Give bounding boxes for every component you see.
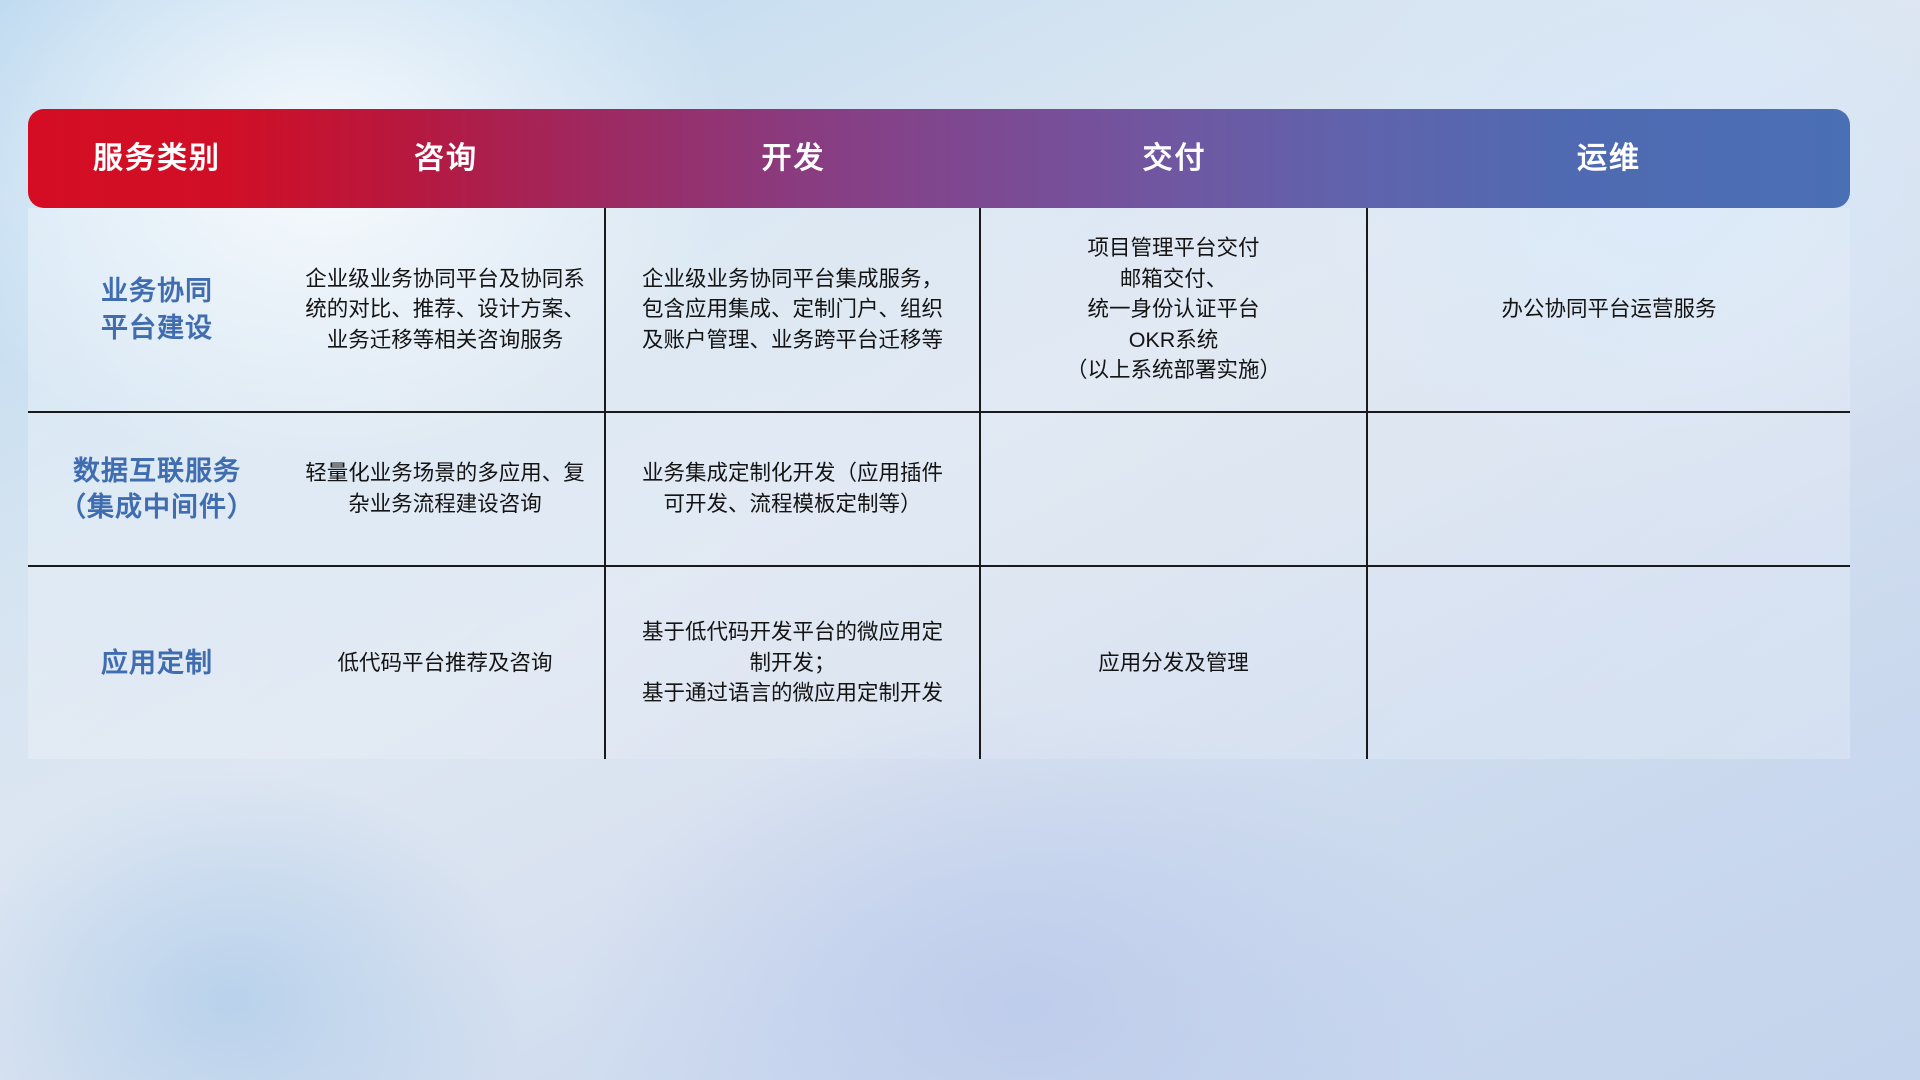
column-header-label: 服务类别 xyxy=(93,144,221,174)
column-header-label: 开发 xyxy=(762,144,826,174)
column-header-category: 服务类别 xyxy=(28,109,286,208)
cell-operations xyxy=(1368,413,1850,565)
column-header-consulting: 咨询 xyxy=(286,109,606,208)
cell-delivery xyxy=(981,413,1368,565)
column-header-label: 运维 xyxy=(1577,144,1641,174)
cell-text: 项目管理平台交付邮箱交付、统一身份认证平台OKR系统（以上系统部署实施） xyxy=(1066,233,1281,386)
cell-development: 企业级业务协同平台集成服务，包含应用集成、定制门户、组织及账户管理、业务跨平台迁… xyxy=(606,208,981,411)
cell-text: 企业级业务协同平台集成服务，包含应用集成、定制门户、组织及账户管理、业务跨平台迁… xyxy=(642,264,943,356)
table-row: 数据互联服务（集成中间件） 轻量化业务场景的多应用、复杂业务流程建设咨询 业务集… xyxy=(28,413,1850,567)
column-header-operations: 运维 xyxy=(1368,109,1850,208)
cell-operations xyxy=(1368,567,1850,759)
cell-delivery: 项目管理平台交付邮箱交付、统一身份认证平台OKR系统（以上系统部署实施） xyxy=(981,208,1368,411)
table-row: 应用定制 低代码平台推荐及咨询 基于低代码开发平台的微应用定制开发；基于通过语言… xyxy=(28,567,1850,759)
cell-text: 基于低代码开发平台的微应用定制开发；基于通过语言的微应用定制开发 xyxy=(642,617,943,709)
cell-text: 企业级业务协同平台及协同系统的对比、推荐、设计方案、业务迁移等相关咨询服务 xyxy=(305,264,585,356)
row-label-data-interconnect: 数据互联服务（集成中间件） xyxy=(28,413,286,565)
column-header-label: 交付 xyxy=(1143,144,1207,174)
table-row: 业务协同平台建设 企业级业务协同平台及协同系统的对比、推荐、设计方案、业务迁移等… xyxy=(28,208,1850,413)
cell-text: 轻量化业务场景的多应用、复杂业务流程建设咨询 xyxy=(305,458,585,519)
cell-consulting: 轻量化业务场景的多应用、复杂业务流程建设咨询 xyxy=(286,413,606,565)
row-label-app-customization: 应用定制 xyxy=(28,567,286,759)
cell-operations: 办公协同平台运营服务 xyxy=(1368,208,1850,411)
row-label-text: 数据互联服务（集成中间件） xyxy=(59,453,255,525)
cell-consulting: 企业级业务协同平台及协同系统的对比、推荐、设计方案、业务迁移等相关咨询服务 xyxy=(286,208,606,411)
cell-text: 应用分发及管理 xyxy=(1098,648,1249,679)
row-label-text: 应用定制 xyxy=(101,645,213,681)
cell-text: 业务集成定制化开发（应用插件可开发、流程模板定制等） xyxy=(642,458,943,519)
cell-development: 基于低代码开发平台的微应用定制开发；基于通过语言的微应用定制开发 xyxy=(606,567,981,759)
column-header-development: 开发 xyxy=(606,109,981,208)
column-header-delivery: 交付 xyxy=(981,109,1368,208)
row-label-text: 业务协同平台建设 xyxy=(101,273,213,345)
table-body: 业务协同平台建设 企业级业务协同平台及协同系统的对比、推荐、设计方案、业务迁移等… xyxy=(28,208,1850,759)
row-label-business-collaboration: 业务协同平台建设 xyxy=(28,208,286,411)
cell-text: 低代码平台推荐及咨询 xyxy=(337,648,552,679)
cell-text: 办公协同平台运营服务 xyxy=(1501,294,1716,325)
service-matrix-table: 服务类别 咨询 开发 交付 运维 业务协同平台建设 企业级业务协同平台及协同系统… xyxy=(28,109,1850,759)
cell-consulting: 低代码平台推荐及咨询 xyxy=(286,567,606,759)
cell-development: 业务集成定制化开发（应用插件可开发、流程模板定制等） xyxy=(606,413,981,565)
column-header-label: 咨询 xyxy=(414,144,478,174)
table-header-row: 服务类别 咨询 开发 交付 运维 xyxy=(28,109,1850,208)
cell-delivery: 应用分发及管理 xyxy=(981,567,1368,759)
